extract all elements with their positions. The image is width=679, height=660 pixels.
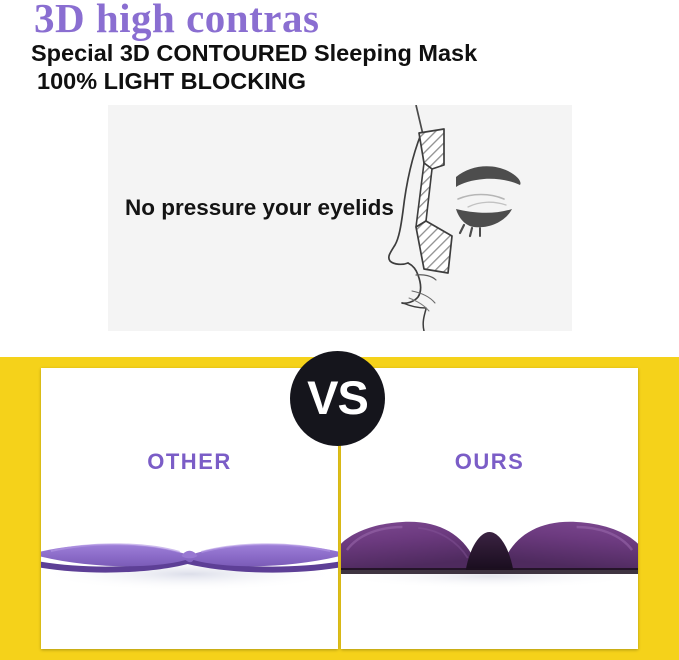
comparison-panel-ours: OURS (341, 368, 638, 649)
flat-mask-icon (41, 488, 338, 618)
page-title: 3D high contras (34, 0, 319, 39)
subtitle-secondary: 100% LIGHT BLOCKING (37, 70, 306, 94)
product-image-other (41, 488, 338, 618)
illustration-panel: No pressure your eyelids (108, 105, 572, 331)
product-feature-image: 3D high contras Special 3D CONTOURED Sle… (0, 0, 679, 660)
side-profile-face-icon (372, 105, 572, 331)
subtitle-primary: Special 3D CONTOURED Sleeping Mask (31, 42, 477, 66)
vs-badge-label: VS (307, 374, 368, 421)
comparison-label-ours: OURS (341, 449, 638, 475)
illustration-caption: No pressure your eyelids (125, 195, 394, 221)
product-image-ours (341, 488, 638, 618)
comparison-label-other: OTHER (41, 449, 338, 475)
contoured-mask-icon (341, 488, 638, 618)
vs-badge: VS (290, 351, 385, 446)
